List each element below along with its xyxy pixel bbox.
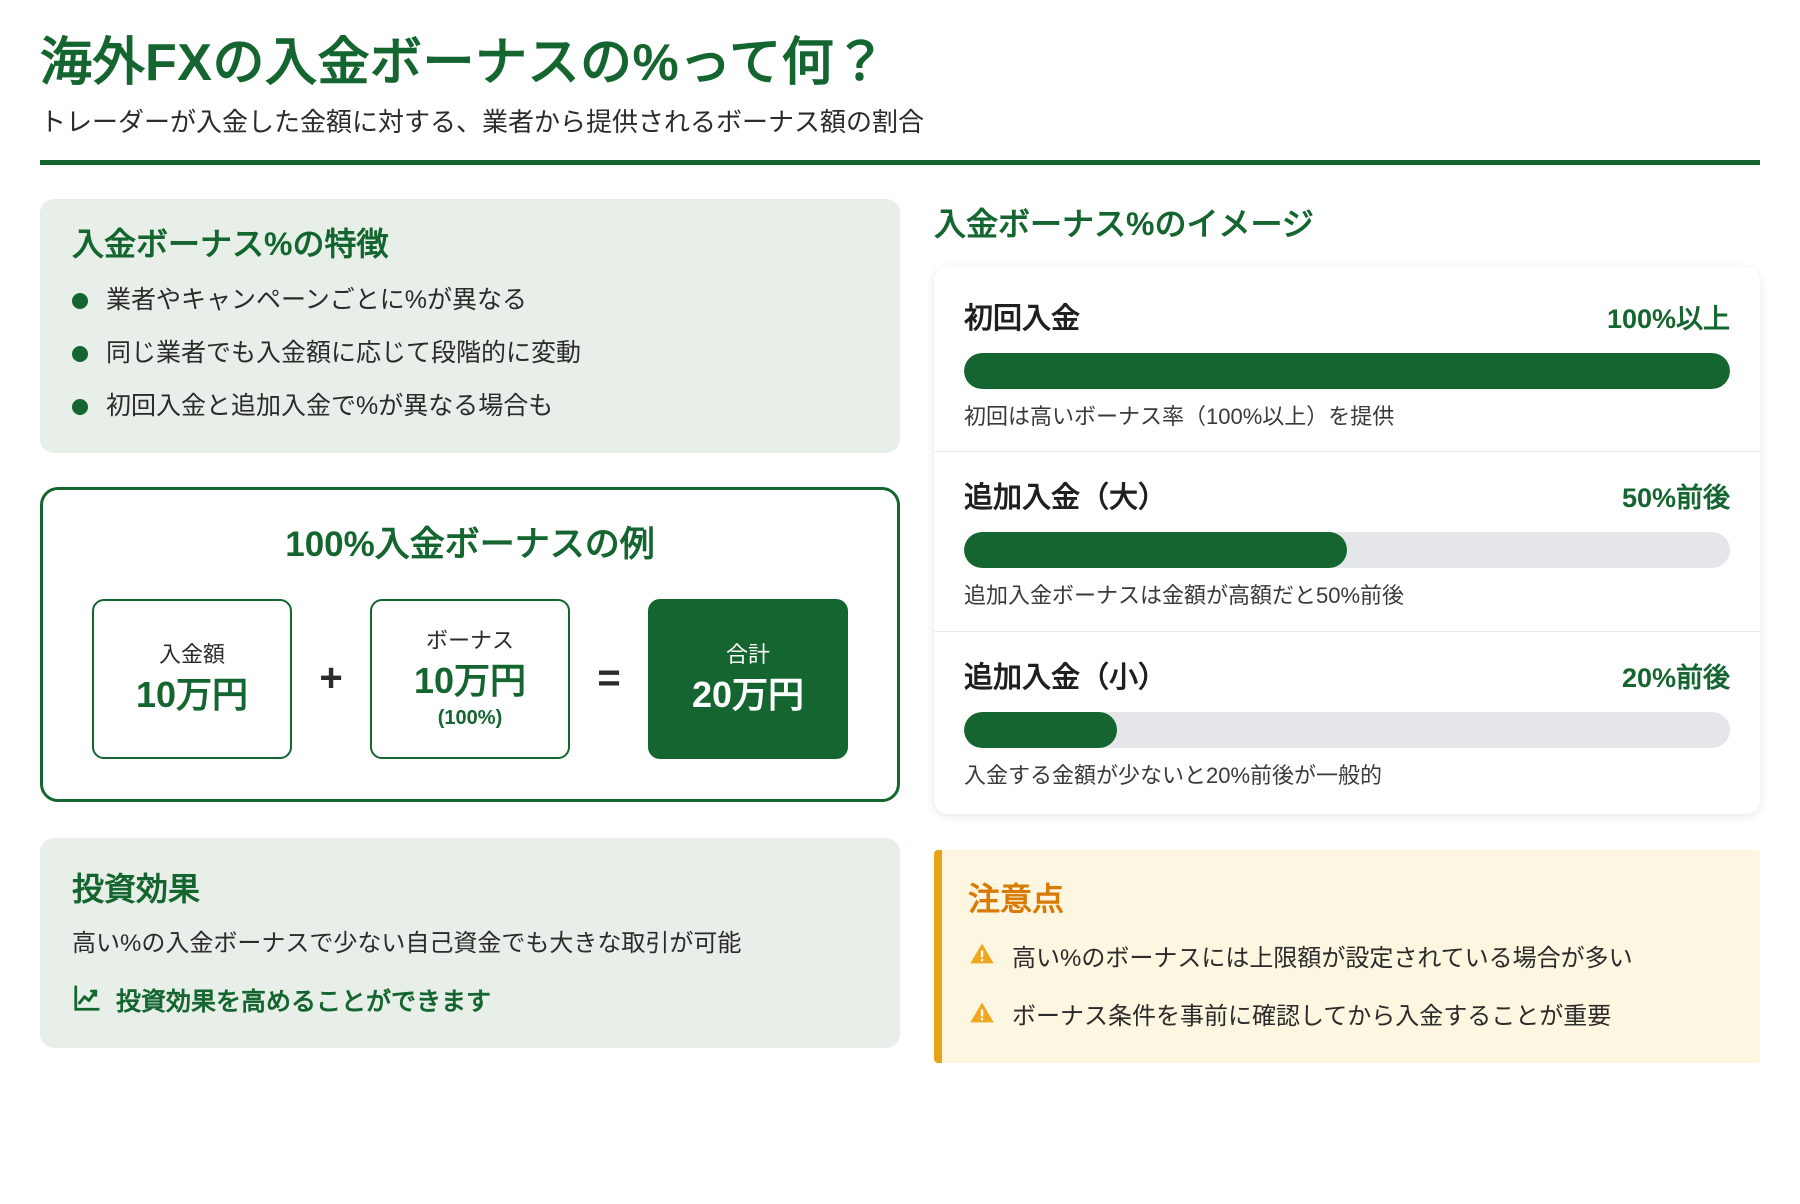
effect-highlight-row: 投資効果を高めることができます: [72, 982, 868, 1018]
example-equation: 入金額 10万円 + ボーナス 10万円 (100%) = 合計 20万円: [73, 599, 867, 759]
feature-item-label: 初回入金と追加入金で%が異なる場合も: [106, 391, 553, 422]
bar-note: 入金する金額が少ないと20%前後が一般的: [964, 762, 1730, 791]
bar-note: 初回は高いボーナス率（100%以上）を提供: [964, 403, 1730, 432]
bonus-value: 10万円: [414, 661, 526, 701]
bar-percent-label: 100%以上: [1607, 297, 1730, 336]
total-value: 20万円: [692, 675, 804, 715]
bar-label: 追加入金（大）: [964, 474, 1167, 516]
left-column: 入金ボーナス%の特徴 業者やキャンペーンごとに%が異なる 同じ業者でも入金額に応…: [40, 199, 900, 1049]
bullet-dot-icon: [72, 293, 88, 309]
list-item: ボーナス条件を事前に確認してから入金することが重要: [968, 999, 1730, 1035]
bar-header: 追加入金（小） 20%前後: [964, 654, 1730, 696]
deposit-label: 入金額: [159, 643, 225, 667]
bullet-dot-icon: [72, 399, 88, 415]
effect-title: 投資効果: [72, 864, 868, 910]
example-title: 100%入金ボーナスの例: [73, 516, 867, 567]
bar-track: [964, 353, 1730, 389]
features-list: 業者やキャンペーンごとに%が異なる 同じ業者でも入金額に応じて段階的に変動 初回…: [72, 285, 868, 423]
bar-percent-label: 50%前後: [1622, 476, 1730, 515]
example-card: 100%入金ボーナスの例 入金額 10万円 + ボーナス 10万円 (100%)…: [40, 487, 900, 802]
bonus-label: ボーナス: [426, 629, 514, 653]
caution-item-label: 高い%のボーナスには上限額が設定されている場合が多い: [1012, 943, 1633, 974]
equals-operator: =: [586, 656, 632, 701]
features-title: 入金ボーナス%の特徴: [72, 225, 868, 263]
page-subtitle: トレーダーが入金した金額に対する、業者から提供されるボーナス額の割合: [40, 106, 1760, 140]
bar-fill: [964, 353, 1730, 389]
list-item: 同じ業者でも入金額に応じて段階的に変動: [72, 338, 868, 369]
features-card: 入金ボーナス%の特徴 業者やキャンペーンごとに%が異なる 同じ業者でも入金額に応…: [40, 199, 900, 453]
bar-fill: [964, 532, 1347, 568]
list-item: 初回入金と追加入金で%が異なる場合も: [72, 391, 868, 422]
bar-row: 初回入金 100%以上 初回は高いボーナス率（100%以上）を提供: [934, 273, 1760, 453]
bonus-box: ボーナス 10万円 (100%): [370, 599, 570, 759]
bar-header: 初回入金 100%以上: [964, 295, 1730, 337]
bar-fill: [964, 712, 1117, 748]
feature-item-label: 業者やキャンペーンごとに%が異なる: [106, 285, 527, 316]
list-item: 高い%のボーナスには上限額が設定されている場合が多い: [968, 940, 1730, 976]
bonus-bars-card: 初回入金 100%以上 初回は高いボーナス率（100%以上）を提供 追加入金（大…: [934, 267, 1760, 815]
warning-triangle-icon: [968, 940, 996, 976]
effect-description: 高い%の入金ボーナスで少ない自己資金でも大きな取引が可能: [72, 928, 868, 960]
bar-header: 追加入金（大） 50%前後: [964, 474, 1730, 516]
chart-line-icon: [72, 983, 102, 1018]
investment-effect-card: 投資効果 高い%の入金ボーナスで少ない自己資金でも大きな取引が可能 投資効果を高…: [40, 838, 900, 1048]
content-columns: 入金ボーナス%の特徴 業者やキャンペーンごとに%が異なる 同じ業者でも入金額に応…: [40, 199, 1760, 1063]
caution-title: 注意点: [968, 874, 1730, 920]
bar-track: [964, 532, 1730, 568]
caution-card: 注意点 高い%のボーナスには上限額が設定されている場合が多い: [934, 850, 1760, 1062]
total-box: 合計 20万円: [648, 599, 848, 759]
bullet-dot-icon: [72, 346, 88, 362]
header-divider: [40, 160, 1760, 165]
plus-operator: +: [308, 656, 354, 701]
total-label: 合計: [726, 643, 770, 667]
caution-item-label: ボーナス条件を事前に確認してから入金することが重要: [1012, 1001, 1611, 1032]
page-title: 海外FXの入金ボーナスの%って何？: [40, 34, 1760, 94]
bar-row: 追加入金（大） 50%前後 追加入金ボーナスは金額が高額だと50%前後: [934, 452, 1760, 632]
header: 海外FXの入金ボーナスの%って何？ トレーダーが入金した金額に対する、業者から提…: [40, 34, 1760, 165]
bar-note: 追加入金ボーナスは金額が高額だと50%前後: [964, 582, 1730, 611]
bar-track: [964, 712, 1730, 748]
feature-item-label: 同じ業者でも入金額に応じて段階的に変動: [106, 338, 581, 369]
bar-percent-label: 20%前後: [1622, 656, 1730, 695]
infographic-page: 海外FXの入金ボーナスの%って何？ トレーダーが入金した金額に対する、業者から提…: [0, 0, 1800, 1204]
bar-label: 初回入金: [964, 295, 1080, 337]
warning-triangle-icon: [968, 999, 996, 1035]
image-section-title: 入金ボーナス%のイメージ: [934, 199, 1760, 245]
effect-highlight-label: 投資効果を高めることができます: [116, 982, 491, 1018]
deposit-box: 入金額 10万円: [92, 599, 292, 759]
list-item: 業者やキャンペーンごとに%が異なる: [72, 285, 868, 316]
bar-label: 追加入金（小）: [964, 654, 1167, 696]
deposit-value: 10万円: [136, 675, 248, 715]
bar-row: 追加入金（小） 20%前後 入金する金額が少ないと20%前後が一般的: [934, 632, 1760, 811]
bonus-percent: (100%): [438, 707, 502, 729]
right-column: 入金ボーナス%のイメージ 初回入金 100%以上 初回は高いボーナス率（100%…: [934, 199, 1760, 1063]
